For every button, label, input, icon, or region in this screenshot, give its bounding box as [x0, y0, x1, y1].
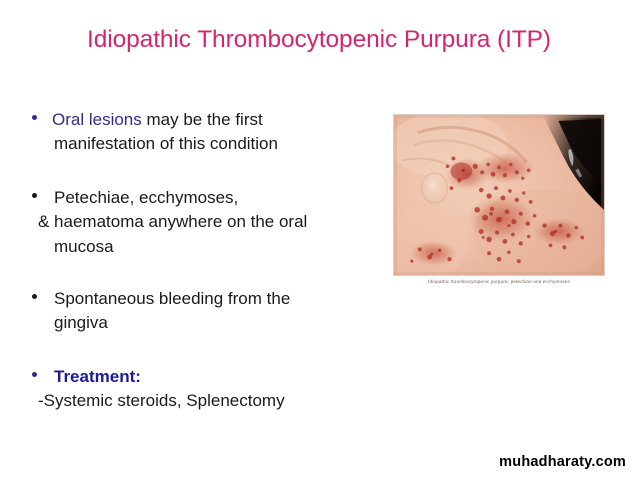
- footer-watermark: muhadharaty.com: [499, 454, 626, 470]
- slide-canvas: Idiopathic Thrombocytopenic Purpura (ITP…: [0, 0, 638, 479]
- figure-caption: Idiopathic thrombocytopenic purpura: pet…: [393, 279, 605, 285]
- bullet-text: mucosa: [54, 237, 114, 256]
- bullet-line: -Systemic steroids, Splenectomy: [38, 389, 384, 413]
- bullet-line: Treatment:: [54, 365, 384, 389]
- clinical-figure: Idiopathic thrombocytopenic purpura: pet…: [393, 114, 605, 292]
- list-item: Oral lesions may be the first manifestat…: [24, 108, 384, 156]
- bullet-text: may be the first: [142, 110, 263, 129]
- highlight-oral-lesions: Oral lesions: [52, 110, 142, 129]
- bullet-marker-icon: [32, 294, 37, 299]
- bullet-line: Petechiae, ecchymoses,: [54, 186, 384, 210]
- bullet-list: Oral lesions may be the first manifestat…: [24, 108, 384, 413]
- bullet-line: manifestation of this condition: [54, 132, 384, 156]
- bullet-text: gingiva: [54, 313, 108, 332]
- treatment-heading: Treatment:: [54, 367, 141, 386]
- bullet-text: -Systemic steroids, Splenectomy: [38, 391, 285, 410]
- list-item: Petechiae, ecchymoses, & haematoma anywh…: [24, 186, 384, 258]
- list-item: Spontaneous bleeding from the gingiva: [24, 287, 384, 335]
- clinical-photograph: [393, 114, 605, 276]
- list-item: Treatment: -Systemic steroids, Splenecto…: [24, 365, 384, 413]
- bullet-text: & haematoma anywhere on the oral: [38, 212, 307, 231]
- bullet-marker-icon: [32, 372, 37, 377]
- bullet-line: Spontaneous bleeding from the: [54, 287, 384, 311]
- bullet-line: & haematoma anywhere on the oral: [38, 210, 384, 234]
- oral-mucosa-photo-graphic: [394, 115, 604, 275]
- bullet-line: Oral lesions may be the first: [52, 108, 384, 132]
- bullet-text: manifestation of this condition: [54, 134, 278, 153]
- page-title: Idiopathic Thrombocytopenic Purpura (ITP…: [0, 26, 638, 54]
- bullet-line: gingiva: [54, 311, 384, 335]
- bullet-marker-icon: [32, 115, 37, 120]
- bullet-text: Spontaneous bleeding from the: [54, 289, 290, 308]
- bullet-line: mucosa: [54, 235, 384, 259]
- bullet-marker-icon: [32, 193, 37, 198]
- bullet-text: Petechiae, ecchymoses,: [54, 188, 238, 207]
